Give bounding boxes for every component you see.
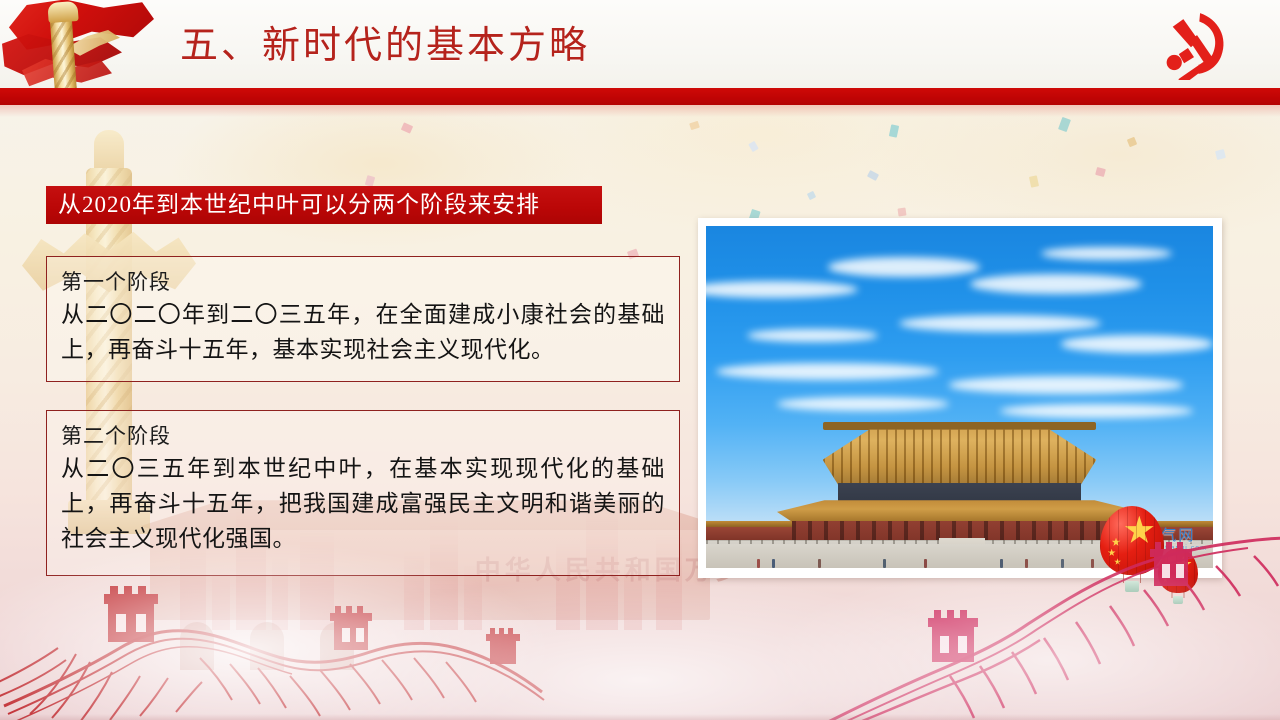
visitor (1061, 559, 1064, 568)
red-flag-torch-icon (0, 0, 170, 88)
torch-cap (47, 1, 78, 23)
page-title: 五、新时代的基本方略 (180, 20, 590, 72)
stage-two-heading: 第二个阶段 (61, 421, 665, 451)
balloon-star-large (1124, 516, 1154, 546)
footer-shadow (0, 714, 1280, 720)
cloud (828, 257, 980, 278)
stage-two-box: 第二个阶段 从二〇三五年到本世纪中叶，在基本实现现代化的基础上，再奋斗十五年，把… (46, 410, 680, 576)
confetti-piece (897, 207, 906, 216)
balloon-star-small (1108, 549, 1116, 557)
visitor (1025, 559, 1028, 568)
cloud (1041, 247, 1173, 261)
visitor (757, 559, 760, 568)
presentation-slide: 中华人民共和国万岁 (0, 0, 1280, 720)
visitor (818, 559, 821, 568)
stage-one-body: 从二〇二〇年到二〇三五年，在全面建成小康社会的基础上，再奋斗十五年，基本实现社会… (61, 297, 665, 367)
stage-two-body: 从二〇三五年到本世纪中叶，在基本实现现代化的基础上，再奋斗十五年，把我国建成富强… (61, 451, 665, 556)
skyline-building (212, 570, 230, 630)
cloud (949, 376, 1182, 393)
cloud (1061, 335, 1213, 352)
chinese-flag-hot-air-balloon (1100, 506, 1164, 592)
balloon-star-large (1175, 556, 1192, 573)
balloon-star-small (1112, 538, 1121, 547)
balloon-envelope (1100, 506, 1164, 575)
slide-header: 五、新时代的基本方略 (0, 0, 1280, 88)
header-divider-glow (0, 105, 1280, 117)
balloon-basket (1173, 596, 1183, 604)
upper-roof (823, 423, 1097, 486)
chinese-flag-hot-air-balloon-small (1158, 548, 1198, 604)
stage-one-heading: 第一个阶段 (61, 267, 665, 297)
cloud (970, 274, 1142, 295)
header-divider-bar (0, 88, 1280, 105)
cloud (706, 281, 858, 298)
section-banner: 从2020年到本世纪中叶可以分两个阶段来安排 (46, 186, 602, 224)
party-emblem-hammer-sickle-icon (1156, 10, 1232, 80)
balloon-star-small (1114, 558, 1121, 565)
cloud (777, 397, 949, 411)
visitor (883, 559, 886, 568)
balloon-star-small (1164, 570, 1170, 576)
cloud (899, 315, 1102, 332)
stage-one-box: 第一个阶段 从二〇二〇年到二〇三五年，在全面建成小康社会的基础上，再奋斗十五年，… (46, 256, 680, 382)
roof-ridge (823, 422, 1097, 430)
balloon-basket (1125, 581, 1139, 592)
visitor (1000, 559, 1003, 568)
cloud (716, 363, 939, 380)
visitor (772, 559, 775, 568)
balloon-envelope (1158, 548, 1198, 593)
cloud (747, 329, 879, 343)
balloon-star-small (1163, 578, 1168, 583)
visitor (1091, 559, 1094, 568)
visitor (924, 559, 927, 568)
